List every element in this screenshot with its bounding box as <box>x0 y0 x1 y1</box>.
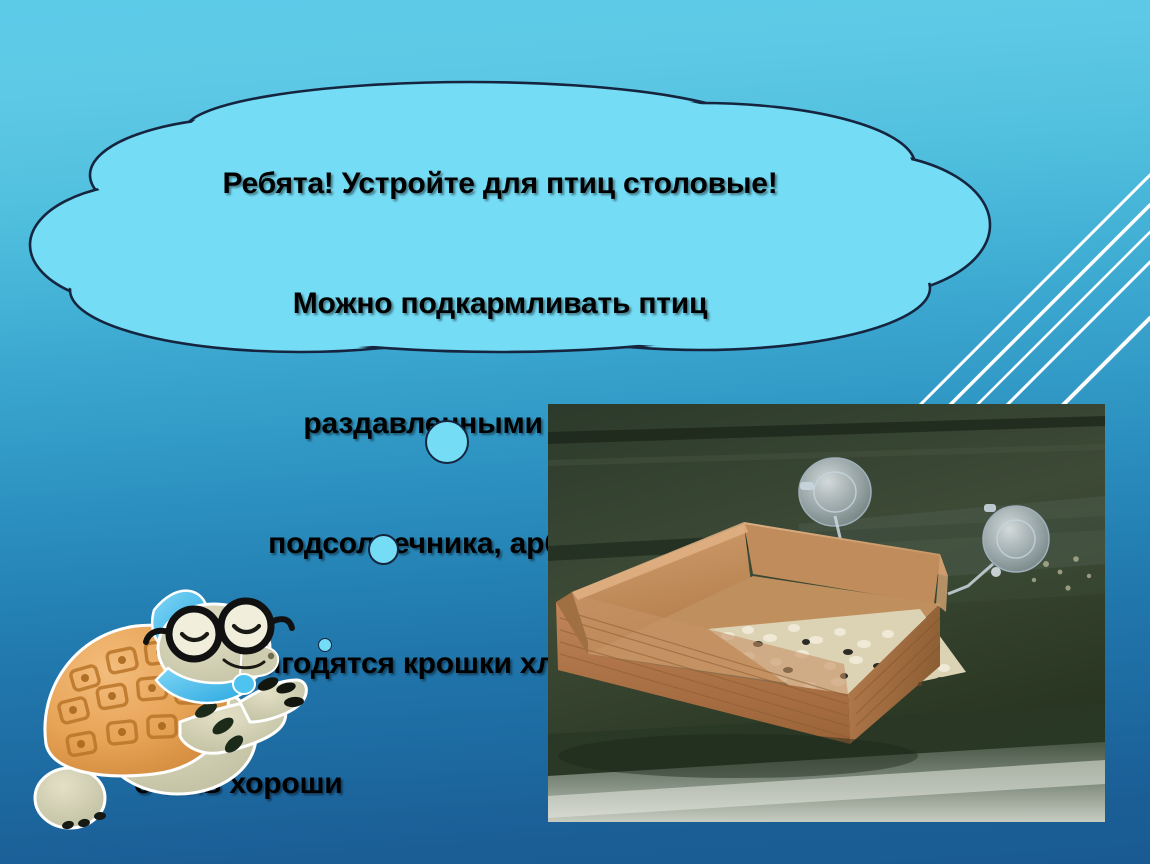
cartoon-turtle-illustration <box>28 576 318 848</box>
presentation-slide: Ребята! Устройте для птиц столовые! Можн… <box>0 0 1150 864</box>
bubble-small <box>318 638 332 652</box>
bird-feeder-photo <box>548 404 1105 822</box>
bubble-large <box>425 420 469 464</box>
cloud-line-2: Можно подкармливать птиц <box>120 284 880 324</box>
cloud-line-1: Ребята! Устройте для птиц столовые! <box>120 164 880 204</box>
bubble-medium <box>368 534 399 565</box>
